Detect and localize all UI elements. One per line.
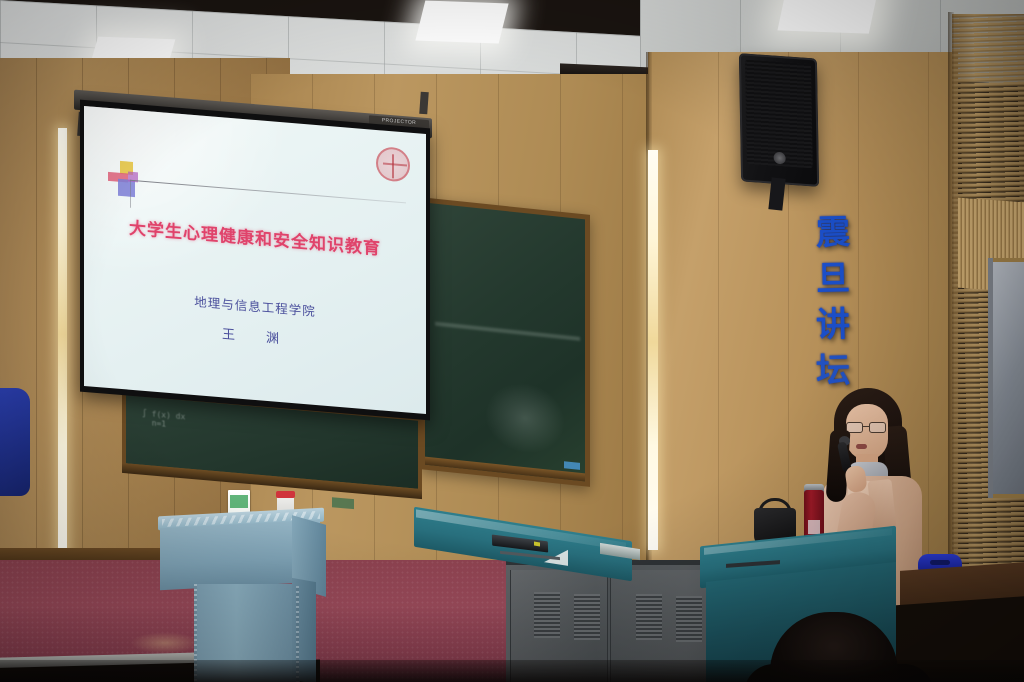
remote-led-icon: [534, 542, 540, 547]
projection-screen: 大学生心理健康和安全知识教育 地理与信息工程学院 王 渊: [80, 100, 430, 421]
cabinet-vent: [636, 594, 662, 640]
paper-cup-lid: [276, 491, 295, 498]
calligraphy-char-3: 讲: [816, 308, 851, 343]
wall-light-strip: [58, 128, 67, 558]
window-frame: [988, 258, 1024, 498]
slide-divider-tick: [130, 180, 131, 208]
wall-light-strip: [648, 150, 658, 550]
glasses-icon: [845, 422, 889, 433]
chalk-smudge: [485, 379, 565, 457]
lecture-hall-photo: 震 旦 讲 坛 ∫ f(x) dx n=1 PROJECTOR: [0, 0, 1024, 682]
chalk-smudge: [435, 322, 580, 341]
presenter-mouth: [856, 444, 867, 449]
university-seal-icon: [376, 146, 410, 183]
cabinet-vent: [676, 596, 702, 642]
blue-lectern: [152, 500, 328, 682]
glasses-bridge: [863, 426, 869, 427]
ceiling-light-panel: [777, 0, 878, 34]
screen-mount-arm: [419, 92, 429, 115]
glasses-lens-right: [869, 422, 886, 433]
tissue-box-label: [230, 495, 248, 508]
wall-seam: [948, 12, 954, 616]
chalkboard-eraser: [332, 497, 354, 509]
foreground-shadow: [0, 660, 1024, 682]
calligraphy-char-4: 坛: [816, 354, 851, 389]
blue-object-left: [0, 388, 30, 496]
chalkboard-center: [420, 197, 590, 487]
loudspeaker-icon: [739, 53, 819, 187]
calligraphy-char-1: 震: [816, 216, 851, 251]
cabinet-vent: [534, 592, 560, 638]
speaker-badge: [774, 152, 786, 165]
chalkboard-surface: [425, 203, 585, 482]
wall-calligraphy: 震 旦 讲 坛: [804, 216, 862, 388]
chalk-writing: ∫ f(x) dx n=1: [142, 409, 185, 431]
cabinet-vent: [574, 594, 600, 640]
slide-surface: 大学生心理健康和安全知识教育 地理与信息工程学院 王 渊: [84, 106, 426, 414]
window-mullion: [988, 258, 993, 498]
calligraphy-char-2: 旦: [816, 262, 851, 297]
thermos-label: [808, 520, 820, 534]
chair-backrest-slot: [930, 560, 950, 565]
ceiling-light-panel: [415, 1, 508, 44]
equipment-cabinet-desk: [414, 524, 714, 682]
